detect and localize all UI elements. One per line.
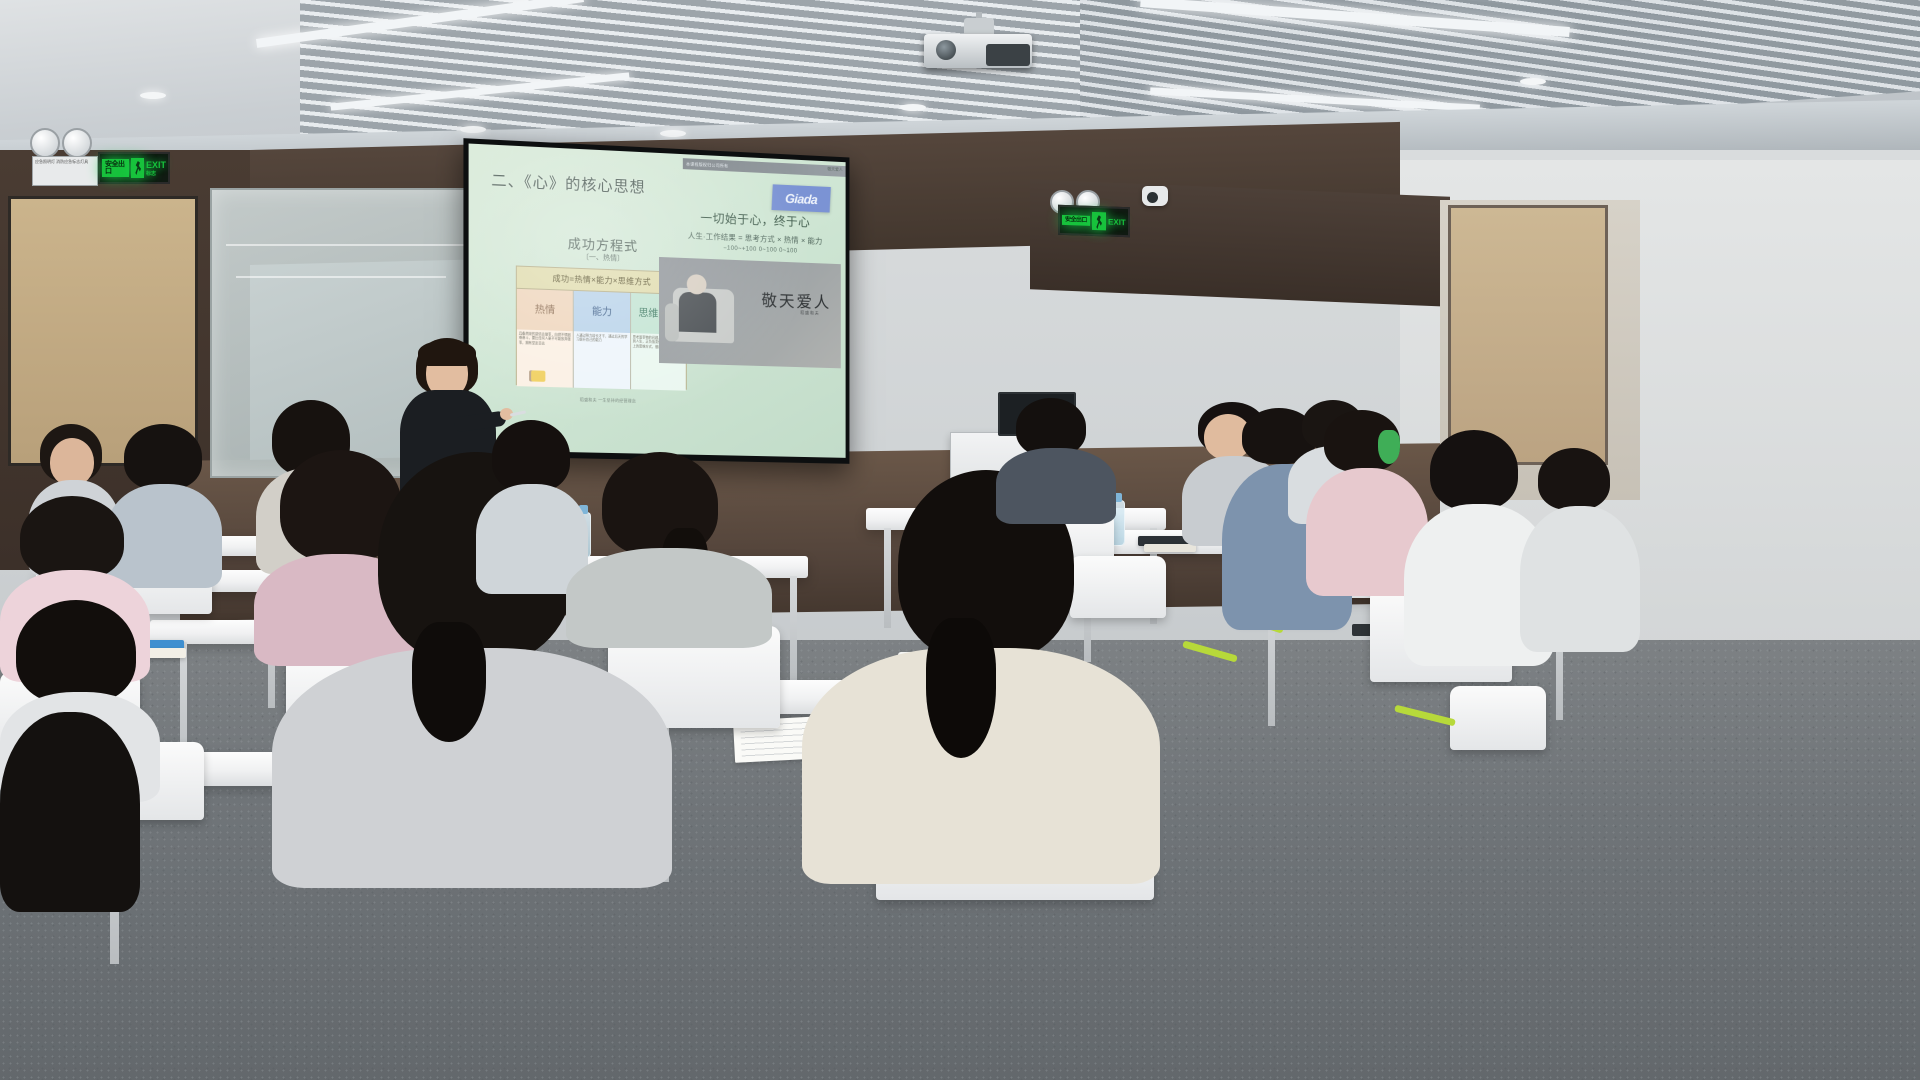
- running-man-icon-right: [1092, 212, 1106, 230]
- attendee-12: [996, 398, 1116, 520]
- attendee-ponytail: [412, 622, 486, 742]
- attendee-ponytail: [926, 618, 996, 758]
- attendee-head: [50, 438, 94, 486]
- slide-footer-note: 稻盛和夫 一生坚持的经营理念: [522, 395, 693, 405]
- downlight-2: [460, 126, 486, 133]
- attendee-hair: [16, 600, 136, 704]
- photo-person-body: [679, 292, 717, 333]
- presenter-fringe: [418, 340, 476, 366]
- attendee-body: [0, 712, 140, 912]
- whiteboard-line-1: [226, 244, 466, 246]
- projector-rear: [986, 44, 1030, 66]
- classroom-scene: 应急照明灯 消防应急标志灯具 安全出口 EXIT 标志 安全出口 EXIT 本课…: [0, 0, 1920, 1080]
- mindset-icon: [531, 370, 545, 382]
- attendee-10: [566, 452, 772, 644]
- desk-leg: [790, 576, 797, 682]
- attendee-hair: [1430, 430, 1518, 510]
- downlight-6: [1520, 78, 1546, 85]
- attendee-18: [1520, 448, 1640, 648]
- photo-person-head: [687, 274, 707, 295]
- hair-tie-green: [1378, 430, 1400, 464]
- whiteboard-line-2: [236, 276, 446, 278]
- table-column-passion: 热情 具备燃烧的激情去做事，向燃不惧困难奋斗，要比任何人更不可能放弃做事，拥有坚…: [517, 289, 574, 388]
- attendee-hair: [124, 424, 202, 490]
- attendee-body: [1520, 506, 1640, 652]
- column-header-passion: 热情: [517, 289, 573, 331]
- table-column-ability: 能力 人通过努力增长才干，通过后天的学习提升自己的能力: [574, 291, 631, 389]
- exit-sign-left: 安全出口 EXIT 标志: [98, 152, 170, 184]
- emergency-light-left: 应急照明灯 消防应急标志灯具: [30, 128, 100, 186]
- door-right[interactable]: [1448, 205, 1608, 465]
- right-panel-photo: 敬天爱人 稻盛和夫: [659, 257, 841, 368]
- column-body-ability: 人通过努力增长才干，通过后天的学习提升自己的能力: [574, 331, 630, 389]
- exit-sign-right-chinese: 安全出口: [1062, 215, 1090, 226]
- downlight-1: [140, 92, 166, 99]
- exit-sign-right: 安全出口 EXIT: [1058, 205, 1130, 238]
- emergency-lamp-left: [30, 128, 60, 158]
- column-header-ability: 能力: [574, 291, 630, 333]
- attendee-hair: [20, 496, 124, 580]
- security-camera-icon: [1142, 186, 1168, 206]
- exit-sign-right-english: EXIT: [1108, 217, 1126, 227]
- running-man-icon: [131, 158, 144, 178]
- exit-sign-english: EXIT: [146, 160, 166, 170]
- attendee-body: [996, 448, 1116, 524]
- slide-title: 二、《心》的核心思想: [491, 169, 645, 197]
- photo-calligraphy-sub: 稻盛和夫: [800, 310, 819, 317]
- projector-lens-icon: [936, 40, 956, 60]
- attendee-5: [0, 712, 140, 912]
- attendee-hair: [492, 420, 570, 492]
- photo-calligraphy: 敬天爱人: [761, 287, 831, 313]
- downlight-3: [660, 130, 686, 137]
- emergency-light-label: 应急照明灯 消防应急标志灯具: [32, 156, 98, 186]
- emergency-lamp-right: [62, 128, 92, 158]
- chair-11[interactable]: [1450, 686, 1546, 750]
- ceiling-projector: [924, 18, 1032, 72]
- slide-topbar-right: 敬天爱人: [827, 166, 842, 173]
- projection-screen-frame: 本课程版权归公司所有 敬天爱人 二、《心》的核心思想 Giada 成功方程式 〔…: [463, 138, 849, 464]
- giada-logo: Giada: [771, 184, 830, 212]
- attendee-hair: [1538, 448, 1610, 510]
- exit-sign-chinese: 安全出口: [102, 159, 129, 178]
- giada-logo-text: Giada: [785, 190, 818, 206]
- slide-topbar-left: 本课程版权归公司所有: [683, 158, 846, 177]
- attendee-body: [566, 548, 772, 648]
- downlight-4: [900, 104, 926, 111]
- exit-sign-sub: 标志: [146, 170, 166, 177]
- attendee-11: [802, 470, 1160, 880]
